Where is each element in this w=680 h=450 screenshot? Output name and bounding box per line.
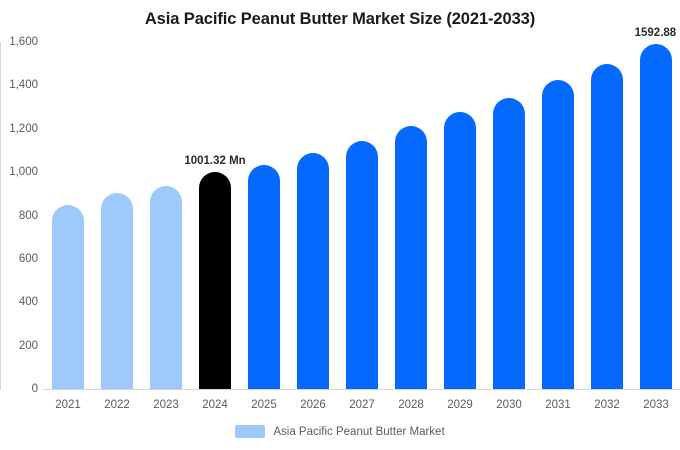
legend-swatch-icon: [235, 425, 265, 438]
bar-column: 1001.32 Mn: [199, 42, 231, 389]
bar-2024[interactable]: 1001.32 Mn: [199, 172, 231, 389]
bar-2027[interactable]: [346, 141, 378, 389]
bar-column: [52, 42, 84, 389]
chart-title: Asia Pacific Peanut Butter Market Size (…: [0, 10, 680, 29]
bar-2021[interactable]: [52, 205, 84, 389]
bar-2026[interactable]: [297, 153, 329, 389]
y-axis-tick-label: 1,000: [0, 166, 38, 178]
bar-column: [150, 42, 182, 389]
bar-chart: Asia Pacific Peanut Butter Market Size (…: [0, 0, 680, 450]
bar-column: 1592.88 Mn: [640, 42, 672, 389]
bar-2029[interactable]: [444, 112, 476, 389]
bar-column: [346, 42, 378, 389]
legend-item[interactable]: Asia Pacific Peanut Butter Market: [235, 425, 444, 438]
bar-2023[interactable]: [150, 186, 182, 389]
y-axis-tick-label: 600: [0, 253, 38, 265]
y-axis-tick-label: 1,200: [0, 123, 38, 135]
y-axis-tick-label: 0: [0, 383, 38, 395]
bar-2032[interactable]: [591, 64, 623, 389]
bar-2022[interactable]: [101, 193, 133, 389]
bar-column: [395, 42, 427, 389]
bar-column: [297, 42, 329, 389]
bar-column: [101, 42, 133, 389]
x-axis-tick-label: 2033: [626, 399, 680, 411]
bar-column: [542, 42, 574, 389]
y-axis-tick-label: 1,400: [0, 79, 38, 91]
y-axis-tick-label: 800: [0, 210, 38, 222]
bar-column: [493, 42, 525, 389]
bar-2028[interactable]: [395, 126, 427, 389]
bar-column: [591, 42, 623, 389]
bar-2025[interactable]: [248, 165, 280, 389]
x-axis-line: [43, 389, 680, 390]
y-axis: 02004006008001,0001,2001,4001,600: [0, 0, 38, 450]
bar-column: [444, 42, 476, 389]
bar-2030[interactable]: [493, 98, 525, 389]
plot-area: 1001.32 Mn1592.88 Mn: [43, 42, 680, 389]
bar-value-label: 1592.88 Mn: [635, 27, 680, 39]
y-axis-tick-label: 200: [0, 340, 38, 352]
y-axis-line: [0, 42, 1, 390]
chart-legend: Asia Pacific Peanut Butter Market: [0, 425, 680, 438]
bar-column: [248, 42, 280, 389]
bar-value-label: 1001.32 Mn: [184, 155, 245, 167]
y-axis-tick-label: 400: [0, 296, 38, 308]
bar-2031[interactable]: [542, 80, 574, 389]
bar-2033[interactable]: 1592.88 Mn: [640, 44, 672, 389]
legend-label: Asia Pacific Peanut Butter Market: [273, 426, 444, 438]
y-axis-tick-label: 1,600: [0, 36, 38, 48]
